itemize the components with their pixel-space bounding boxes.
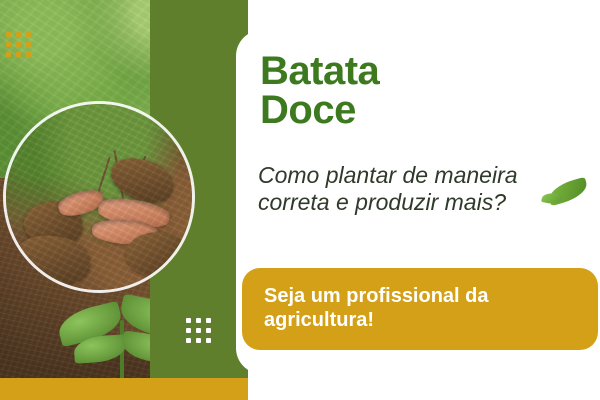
dot-grid-gold-icon bbox=[6, 32, 31, 57]
content-card: Batata Doce Como plantar de maneira corr… bbox=[236, 30, 588, 374]
headline-line-1: Batata bbox=[260, 49, 379, 93]
soil-clod bbox=[21, 198, 85, 250]
soil-clod bbox=[14, 233, 92, 285]
soil-clod bbox=[106, 153, 178, 207]
sweet-potato-tuber bbox=[96, 195, 171, 232]
leaf-icon bbox=[542, 178, 586, 208]
page-title: Batata Doce bbox=[260, 52, 560, 130]
gold-bottom-strip bbox=[0, 378, 248, 400]
soil-clod bbox=[122, 226, 190, 282]
headline-line-2: Doce bbox=[260, 91, 560, 130]
cta-banner[interactable]: Seja um profissional da agricultura! bbox=[242, 268, 598, 350]
cta-label: Seja um profissional da agricultura! bbox=[242, 285, 598, 332]
sweet-potato-tuber bbox=[91, 218, 159, 247]
harvested-sweet-potatoes-in-soil-photo bbox=[6, 104, 192, 290]
root-strand bbox=[95, 157, 110, 199]
root-strand bbox=[114, 150, 125, 202]
dot-grid-white-icon bbox=[186, 318, 211, 343]
subheadline: Como plantar de maneira correta e produz… bbox=[258, 162, 548, 216]
promo-banner: Batata Doce Como plantar de maneira corr… bbox=[0, 0, 600, 400]
root-strand bbox=[127, 156, 146, 193]
sweet-potato-tuber bbox=[56, 186, 106, 220]
